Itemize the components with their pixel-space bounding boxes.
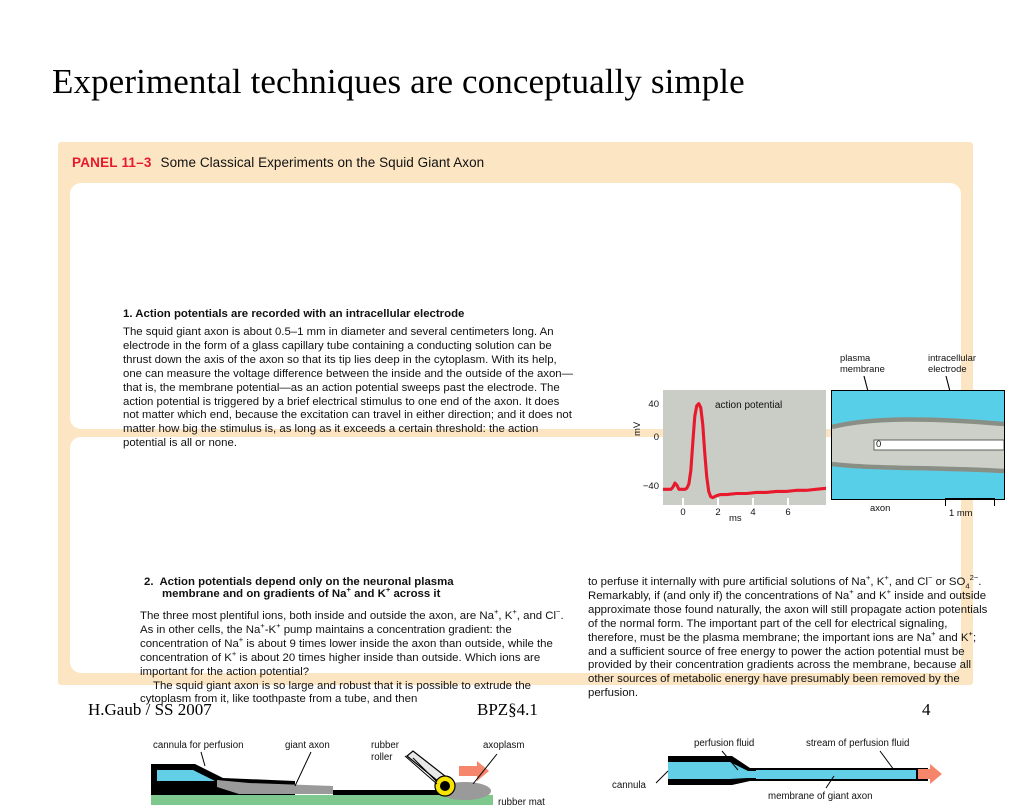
chart-xlabel: ms: [729, 513, 742, 524]
leader-stream: [880, 751, 894, 770]
electrode-zero-marker: 0: [876, 439, 881, 450]
page-title: Experimental techniques are conceptually…: [52, 62, 972, 102]
slide-footer: H.Gaub / SS 2007 BPZ§4.1 4: [0, 700, 1024, 730]
axon-lumen: [756, 770, 916, 779]
extrusion-arrow-icon: [459, 761, 489, 781]
section-2-paragraph-3: to perfuse it internally with pure artif…: [588, 576, 987, 699]
footer-author: H.Gaub / SS 2007: [88, 700, 212, 720]
label-axon: axon: [870, 502, 890, 513]
chart-xtick-2: 2: [711, 507, 725, 518]
axon-flattened: [333, 790, 443, 795]
section-2-body-left: The three most plentiful ions, both insi…: [140, 610, 568, 707]
chart-line-series: [663, 404, 826, 498]
chart-xtick-4: 4: [746, 507, 760, 518]
extrusion-svg: [143, 740, 568, 812]
footer-course: BPZ§4.1: [477, 700, 538, 720]
section-2-heading-line1: 2. Action potentials depend only on the …: [144, 576, 454, 588]
roller-core: [440, 781, 450, 791]
chart-xtickmark-2: [717, 498, 719, 505]
intracellular-electrode-tube: [874, 440, 1004, 450]
section-2-paragraph-1: The three most plentiful ions, both insi…: [140, 610, 564, 678]
section-1-heading: 1. Action potentials are recorded with a…: [123, 308, 583, 320]
chart-ytick-0: 0: [637, 432, 659, 443]
chart-annotation: action potential: [715, 400, 782, 411]
section-2-body-right: to perfuse it internally with pure artif…: [588, 576, 996, 701]
scale-bar-label: 1 mm: [949, 507, 972, 518]
panel-number: PANEL 11–3: [72, 155, 152, 170]
chart-xtickmark-4: [752, 498, 754, 505]
leader-cannula: [201, 752, 205, 766]
footer-page-number: 4: [922, 700, 931, 720]
panel-title: Some Classical Experiments on the Squid …: [161, 155, 485, 170]
scale-bar: [945, 498, 995, 506]
rubber-mat: [151, 795, 493, 805]
micrograph-image-box: 0: [831, 390, 1005, 500]
section-2-heading: 2. Action potentials depend only on the …: [144, 576, 574, 600]
section-2-heading-line2: membrane and on gradients of Na+ and K+ …: [162, 588, 440, 600]
panel-container: PANEL 11–3Some Classical Experiments on …: [58, 142, 973, 685]
perfusion-svg: [598, 738, 998, 810]
chart-plot-area: action potential: [663, 390, 826, 505]
action-potential-chart: mV 40 0 −40 action potential 0 2 4 6 ms: [633, 380, 838, 525]
perfusion-diagram: perfusion fluid stream of perfusion flui…: [598, 738, 998, 810]
chart-xtickmark-0: [682, 498, 684, 505]
chart-xtick-6: 6: [781, 507, 795, 518]
chart-ytick-40: 40: [637, 399, 659, 410]
extrusion-diagram: cannula for perfusion giant axon rubber …: [143, 740, 568, 812]
chart-xtick-0: 0: [676, 507, 690, 518]
chart-xtickmark-6: [787, 498, 789, 505]
leader-giant-axon: [295, 752, 311, 786]
axon-micrograph-diagram: plasma membrane intracellular electrode: [828, 352, 1008, 527]
chart-ytick-neg40: −40: [632, 481, 659, 492]
section-1-body: The squid giant axon is about 0.5–1 mm i…: [123, 326, 575, 451]
micrograph-content: [832, 391, 1004, 499]
leader-cannula-right: [656, 771, 668, 783]
slide-root: Experimental techniques are conceptually…: [0, 0, 1024, 768]
panel-header: PANEL 11–3Some Classical Experiments on …: [72, 154, 484, 172]
